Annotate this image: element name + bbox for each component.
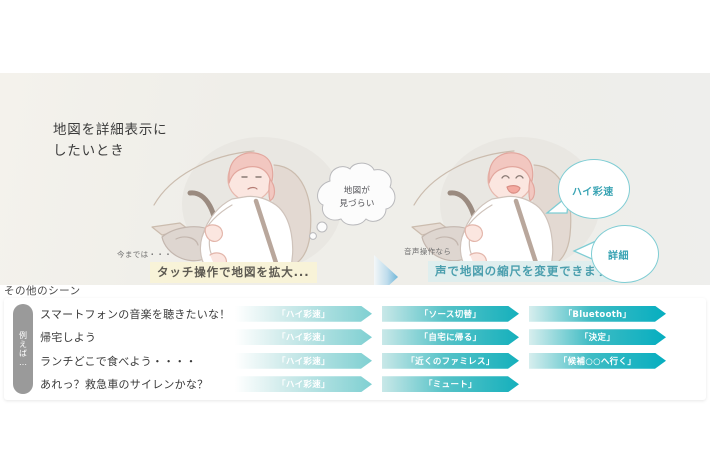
speech-bubble-label-2: 詳細 bbox=[608, 247, 629, 262]
voice-command-chip: 「ミュート」 bbox=[382, 376, 519, 392]
chip-slot: 「ソース切替」 bbox=[382, 306, 529, 322]
chip-slot: 「ハイ彩速」 bbox=[235, 306, 382, 322]
chip-slot bbox=[529, 376, 676, 392]
table-row: スマートフォンの音楽を聴きたいな！ 「ハイ彩速」 「ソース切替」 「Blueto… bbox=[40, 302, 704, 326]
voice-command-chip: 「候補○○へ行く」 bbox=[529, 353, 666, 369]
voice-command-chip: 「近くのファミレス」 bbox=[382, 353, 519, 369]
chip-slot: 「ハイ彩速」 bbox=[235, 376, 382, 392]
voice-command-chip: 「Bluetooth」 bbox=[529, 306, 666, 322]
scene-phrase: あれっ？救急車のサイレンかな？ bbox=[40, 376, 235, 392]
caption-after: 音声操作なら bbox=[404, 246, 451, 257]
voice-command-chip: 「ハイ彩速」 bbox=[235, 329, 372, 345]
chip-slot: 「ハイ彩速」 bbox=[235, 353, 382, 369]
voice-command-chip: 「ハイ彩速」 bbox=[235, 376, 372, 392]
voice-command-chip: 「ハイ彩速」 bbox=[235, 353, 372, 369]
other-scenes-card: 例えば… スマートフォンの音楽を聴きたいな！ 「ハイ彩速」 「ソース切替」 「B… bbox=[4, 298, 706, 400]
thought-bubble-text: 地図が 見づらい bbox=[329, 185, 385, 211]
slide-canvas: 地図を詳細表示に したいとき bbox=[0, 0, 710, 474]
scene-phrase: ランチどこで食べよう・・・・ bbox=[40, 353, 235, 369]
chip-slot: 「自宅に帰る」 bbox=[382, 329, 529, 345]
banner-touch-operation: タッチ操作で地図を拡大... bbox=[150, 262, 317, 283]
hero-panel: 地図を詳細表示に したいとき bbox=[0, 73, 710, 285]
chip-slot: 「ミュート」 bbox=[382, 376, 529, 392]
chip-slot: 「ハイ彩速」 bbox=[235, 329, 382, 345]
voice-command-chip-empty bbox=[529, 376, 666, 392]
table-row: 帰宅しよう 「ハイ彩速」 「自宅に帰る」 「決定」 bbox=[40, 326, 704, 350]
table-row: ランチどこで食べよう・・・・ 「ハイ彩速」 「近くのファミレス」 「候補○○へ行… bbox=[40, 349, 704, 373]
table-row: あれっ？救急車のサイレンかな？ 「ハイ彩速」 「ミュート」 bbox=[40, 373, 704, 397]
chip-slot: 「候補○○へ行く」 bbox=[529, 353, 676, 369]
voice-command-chip: 「決定」 bbox=[529, 329, 666, 345]
other-scenes-label: その他のシーン bbox=[4, 283, 81, 298]
voice-command-chip: 「ソース切替」 bbox=[382, 306, 519, 322]
voice-command-chip: 「ハイ彩速」 bbox=[235, 306, 372, 322]
chip-slot: 「近くのファミレス」 bbox=[382, 353, 529, 369]
speech-bubble-label-1: ハイ彩速 bbox=[572, 183, 614, 198]
chevron-right-icon bbox=[372, 253, 400, 285]
scene-phrase: 帰宅しよう bbox=[40, 329, 235, 345]
scene-phrase: スマートフォンの音楽を聴きたいな！ bbox=[40, 306, 235, 322]
caption-before: 今までは・・・ bbox=[117, 249, 172, 260]
chip-slot: 「Bluetooth」 bbox=[529, 306, 676, 322]
chip-slot: 「決定」 bbox=[529, 329, 676, 345]
example-vertical-tab: 例えば… bbox=[13, 304, 33, 394]
voice-command-chip: 「自宅に帰る」 bbox=[382, 329, 519, 345]
scene-rows: スマートフォンの音楽を聴きたいな！ 「ハイ彩速」 「ソース切替」 「Blueto… bbox=[40, 302, 704, 396]
